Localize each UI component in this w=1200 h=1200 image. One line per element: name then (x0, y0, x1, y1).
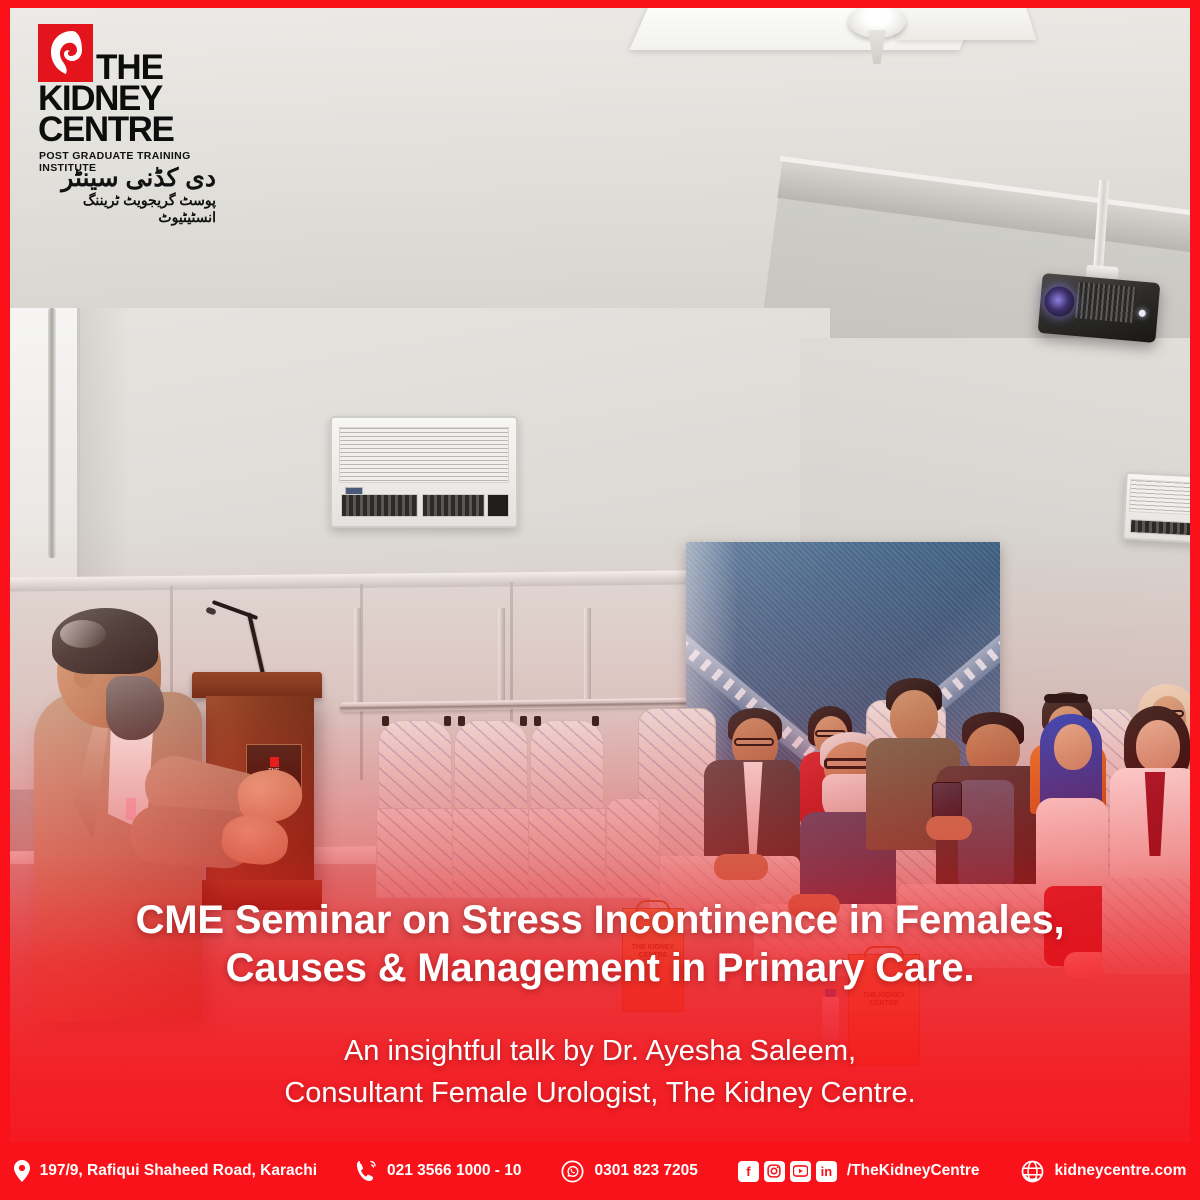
subtitle-line1: An insightful talk by Dr. Ayesha Saleem, (0, 1030, 1200, 1072)
logo-line3: CENTRE (38, 114, 174, 145)
headline-line1: CME Seminar on Stress Incontinence in Fe… (0, 896, 1200, 944)
chair-knob (592, 716, 599, 726)
subtitle: An insightful talk by Dr. Ayesha Saleem,… (0, 1030, 1200, 1114)
kidney-logo-icon (38, 24, 93, 82)
chair-backrest (378, 720, 452, 814)
chair-backrest (530, 720, 604, 814)
logo-urdu-name: دی کڈنی سینٹر (40, 164, 216, 192)
footer-website[interactable]: kidneycentre.com (1000, 1159, 1200, 1184)
footer-whatsapp[interactable]: 0301 823 7205 (541, 1160, 717, 1183)
torso (1036, 798, 1108, 894)
contact-footer-bar: 197/9, Rafiqui Shaheed Road, Karachi 021… (0, 1142, 1200, 1200)
chair-backrest (454, 720, 528, 814)
social-handle: /TheKidneyCentre (847, 1162, 980, 1180)
youtube-glyph (793, 1165, 808, 1177)
empty-chairs (378, 720, 608, 898)
chair-knob (382, 716, 389, 726)
bag-label: THE KIDNEY CENTRE (859, 992, 909, 1008)
chair-seat (376, 808, 454, 898)
phone-icon (357, 1160, 377, 1182)
footer-social[interactable]: f in /TheKidneyCentre (718, 1161, 1000, 1182)
sunglasses-icon (1044, 694, 1088, 703)
headline-line2: Causes & Management in Primary Care. (0, 944, 1200, 992)
whatsapp-text: 0301 823 7205 (594, 1162, 697, 1180)
chair-seat (528, 808, 606, 898)
hands (926, 816, 972, 840)
subtitle-line2: Consultant Female Urologist, The Kidney … (0, 1072, 1200, 1114)
chair-seat (452, 808, 530, 898)
logo-urdu-tagline: پوسٹ گریجویٹ ٹریننگ انسٹیٹیوٹ (40, 192, 216, 226)
side-chair (606, 798, 660, 898)
instagram-glyph (767, 1164, 781, 1178)
youtube-icon[interactable] (790, 1161, 811, 1182)
footer-address[interactable]: 197/9, Rafiqui Shaheed Road, Karachi (0, 1160, 337, 1182)
social-icon-row: f in (738, 1161, 837, 1182)
website-text: kidneycentre.com (1055, 1162, 1187, 1180)
podium-top (192, 672, 322, 698)
face (1136, 720, 1180, 772)
poster-canvas: THE KIDNEY CENTRE THE KIDNEY CENTRE THE … (0, 0, 1200, 1200)
location-pin-icon (14, 1160, 30, 1182)
globe-icon (1020, 1159, 1045, 1184)
hands (714, 854, 768, 880)
footer-phone[interactable]: 021 3566 1000 - 10 (337, 1160, 541, 1182)
address-text: 197/9, Rafiqui Shaheed Road, Karachi (40, 1162, 317, 1180)
speaker-hair-highlight (60, 620, 106, 648)
instagram-icon[interactable] (764, 1161, 785, 1182)
phone-text: 021 3566 1000 - 10 (387, 1162, 521, 1180)
facebook-icon[interactable]: f (738, 1161, 759, 1182)
plaque-logo-icon (270, 757, 279, 767)
linkedin-icon[interactable]: in (816, 1161, 837, 1182)
eyeglasses-icon (734, 738, 774, 746)
whatsapp-icon (561, 1160, 584, 1183)
chair-knob (444, 716, 451, 726)
face (890, 690, 938, 744)
chair-knob (534, 716, 541, 726)
face (1054, 724, 1092, 770)
headline: CME Seminar on Stress Incontinence in Fe… (0, 896, 1200, 992)
kidney-centre-logo: THE KIDNEY CENTRE POST GRADUATE TRAINING… (26, 24, 216, 204)
chair-knob (520, 716, 527, 726)
chair-knob (458, 716, 465, 726)
kidney-shape-icon (46, 29, 84, 77)
